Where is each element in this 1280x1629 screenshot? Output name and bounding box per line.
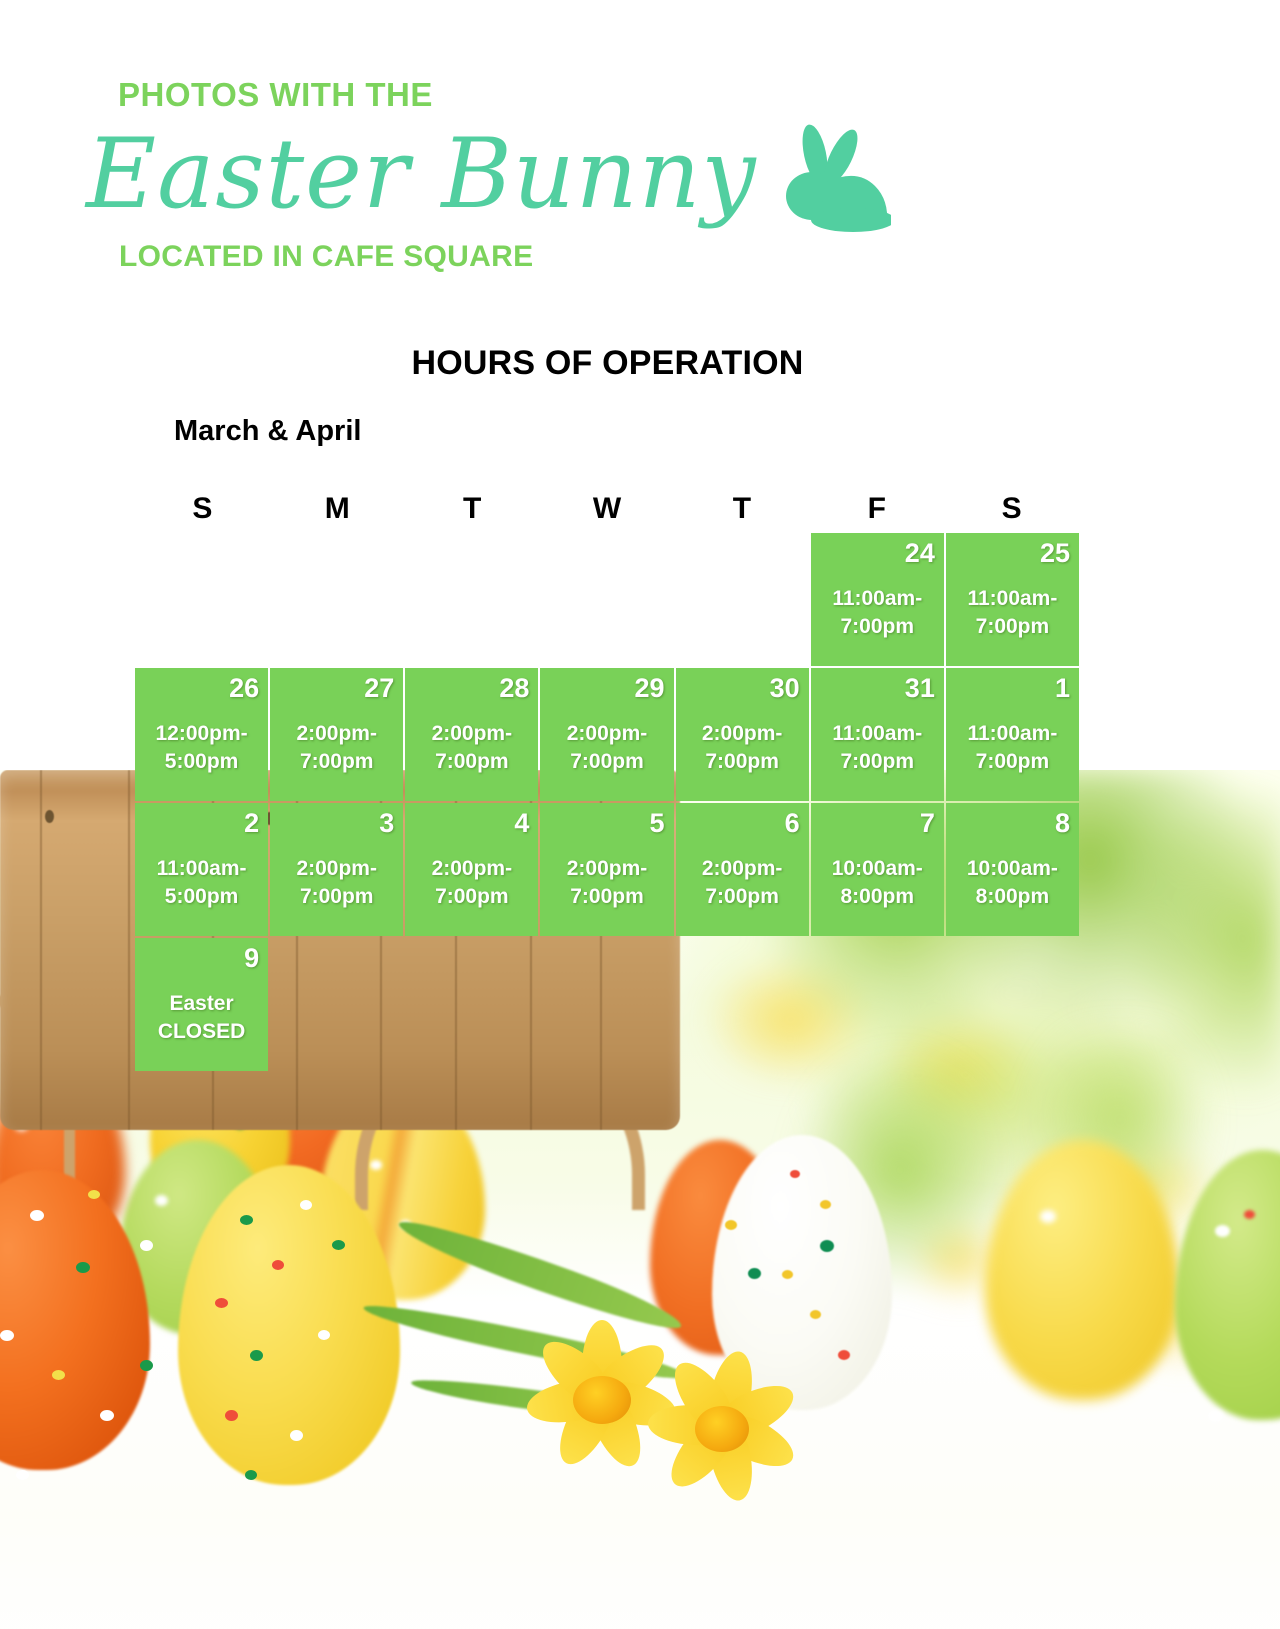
calendar-week-row: 2612:00pm-5:00pm272:00pm-7:00pm282:00pm-… (135, 668, 1079, 801)
calendar-day-hours: 11:00am-7:00pm (946, 585, 1079, 642)
calendar-day-cell[interactable]: 272:00pm-7:00pm (270, 668, 403, 801)
calendar-cell-wrapper: 2411:00am-7:00pm (811, 533, 944, 666)
calendar-cell-wrapper: 52:00pm-7:00pm (540, 803, 673, 936)
calendar-cell-wrapper: 710:00am-8:00pm (811, 803, 944, 936)
calendar-day-cell[interactable]: 810:00am-8:00pm (946, 803, 1079, 936)
calendar-cell-wrapper: 282:00pm-7:00pm (405, 668, 538, 801)
calendar-week-row: 9Easter CLOSED (135, 938, 1079, 1071)
calendar-cell-wrapper (540, 533, 673, 666)
calendar-cell-wrapper (811, 938, 944, 1071)
bunny-silhouette-icon (779, 124, 891, 237)
calendar-cell-wrapper: 272:00pm-7:00pm (270, 668, 403, 801)
header-kicker: PHOTOS WITH THE (118, 76, 433, 114)
calendar-day-cell[interactable]: 42:00pm-7:00pm (405, 803, 538, 936)
calendar-day-cell[interactable]: 292:00pm-7:00pm (540, 668, 673, 801)
day-of-week-header: S (944, 485, 1079, 533)
calendar-cell-empty (405, 938, 538, 1071)
calendar-cell-wrapper: 32:00pm-7:00pm (270, 803, 403, 936)
calendar-cell-empty (676, 533, 809, 666)
day-of-week-header-row: SMTWTFS (135, 485, 1079, 533)
easter-bunny-hours-poster: PHOTOS WITH THE Easter Bunny (0, 0, 1280, 1629)
calendar-day-cell[interactable]: 62:00pm-7:00pm (676, 803, 809, 936)
calendar-day-hours: Easter CLOSED (135, 990, 268, 1047)
calendar-day-cell[interactable]: 710:00am-8:00pm (811, 803, 944, 936)
calendar-cell-empty (405, 533, 538, 666)
calendar-weeks: 2411:00am-7:00pm2511:00am-7:00pm2612:00p… (135, 533, 1079, 1071)
calendar-cell-wrapper (676, 533, 809, 666)
calendar-day-hours: 2:00pm-7:00pm (270, 720, 403, 777)
calendar-day-cell[interactable]: 282:00pm-7:00pm (405, 668, 538, 801)
calendar-day-cell[interactable]: 3111:00am-7:00pm (811, 668, 944, 801)
calendar-day-number: 24 (905, 540, 935, 567)
calendar-week-row: 211:00am-5:00pm32:00pm-7:00pm42:00pm-7:0… (135, 803, 1079, 936)
calendar-grid: SMTWTFS 2411:00am-7:00pm2511:00am-7:00pm… (135, 485, 1079, 1073)
page-title: Easter Bunny (86, 124, 757, 225)
calendar-cell-wrapper (270, 533, 403, 666)
calendar-cell-wrapper: 2612:00pm-5:00pm (135, 668, 268, 801)
calendar-cell-wrapper: 292:00pm-7:00pm (540, 668, 673, 801)
calendar-day-number: 29 (635, 675, 665, 702)
calendar-day-cell[interactable]: 302:00pm-7:00pm (676, 668, 809, 801)
calendar-cell-empty (270, 938, 403, 1071)
calendar-day-hours: 2:00pm-7:00pm (405, 855, 538, 912)
calendar-cell-empty (811, 938, 944, 1071)
calendar-cell-wrapper (540, 938, 673, 1071)
calendar-day-hours: 2:00pm-7:00pm (676, 855, 809, 912)
header-title-line: Easter Bunny (86, 112, 891, 237)
calendar-day-cell[interactable]: 2411:00am-7:00pm (811, 533, 944, 666)
calendar-day-hours: 2:00pm-7:00pm (270, 855, 403, 912)
calendar-day-number: 27 (364, 675, 394, 702)
calendar-cell-wrapper: 3111:00am-7:00pm (811, 668, 944, 801)
calendar-cell-wrapper (676, 938, 809, 1071)
calendar-day-number: 30 (770, 675, 800, 702)
calendar-day-hours: 10:00am-8:00pm (946, 855, 1079, 912)
calendar-cell-wrapper (270, 938, 403, 1071)
calendar-cell-wrapper (946, 938, 1079, 1071)
calendar-day-hours: 2:00pm-7:00pm (405, 720, 538, 777)
month-label: March & April (174, 415, 361, 448)
calendar-day-number: 3 (379, 810, 394, 837)
calendar-cell-wrapper: 42:00pm-7:00pm (405, 803, 538, 936)
calendar-cell-empty (676, 938, 809, 1071)
calendar-day-cell[interactable]: 2511:00am-7:00pm (946, 533, 1079, 666)
calendar-day-number: 7 (920, 810, 935, 837)
day-of-week-header: M (270, 485, 405, 533)
calendar-cell-wrapper: 62:00pm-7:00pm (676, 803, 809, 936)
day-of-week-header: W (540, 485, 675, 533)
calendar-cell-wrapper: 111:00am-7:00pm (946, 668, 1079, 801)
calendar-day-number: 26 (229, 675, 259, 702)
calendar-cell-wrapper: 9Easter CLOSED (135, 938, 268, 1071)
calendar-cell-empty (540, 533, 673, 666)
calendar-day-hours: 11:00am-7:00pm (811, 585, 944, 642)
photo-bottom-sheen (0, 1509, 1280, 1629)
calendar-cell-empty (135, 533, 268, 666)
calendar-cell-wrapper: 2511:00am-7:00pm (946, 533, 1079, 666)
calendar-cell-empty (270, 533, 403, 666)
calendar-day-cell[interactable]: 211:00am-5:00pm (135, 803, 268, 936)
calendar-day-number: 6 (785, 810, 800, 837)
calendar-day-number: 2 (244, 810, 259, 837)
calendar-day-cell[interactable]: 111:00am-7:00pm (946, 668, 1079, 801)
day-of-week-header: S (135, 485, 270, 533)
calendar-day-number: 1 (1055, 675, 1070, 702)
day-of-week-header: T (674, 485, 809, 533)
calendar-day-cell[interactable]: 52:00pm-7:00pm (540, 803, 673, 936)
calendar-day-number: 4 (514, 810, 529, 837)
hours-of-operation-title: HOURS OF OPERATION (0, 344, 1215, 383)
calendar-cell-wrapper (135, 533, 268, 666)
calendar-day-number: 25 (1040, 540, 1070, 567)
calendar-day-hours: 11:00am-5:00pm (135, 855, 268, 912)
calendar-cell-wrapper (405, 938, 538, 1071)
calendar-day-hours: 11:00am-7:00pm (946, 720, 1079, 777)
day-of-week-header: T (405, 485, 540, 533)
calendar-day-number: 31 (905, 675, 935, 702)
calendar-day-hours: 2:00pm-7:00pm (540, 855, 673, 912)
day-of-week-header: F (809, 485, 944, 533)
calendar-day-number: 9 (244, 945, 259, 972)
calendar-day-cell[interactable]: 2612:00pm-5:00pm (135, 668, 268, 801)
calendar-day-number: 8 (1055, 810, 1070, 837)
calendar-week-row: 2411:00am-7:00pm2511:00am-7:00pm (135, 533, 1079, 666)
calendar-cell-wrapper: 302:00pm-7:00pm (676, 668, 809, 801)
calendar-cell-wrapper (405, 533, 538, 666)
calendar-day-hours: 2:00pm-7:00pm (676, 720, 809, 777)
calendar-cell-wrapper: 211:00am-5:00pm (135, 803, 268, 936)
calendar-day-hours: 11:00am-7:00pm (811, 720, 944, 777)
calendar-day-hours: 2:00pm-7:00pm (540, 720, 673, 777)
calendar-cell-wrapper: 810:00am-8:00pm (946, 803, 1079, 936)
calendar-day-hours: 12:00pm-5:00pm (135, 720, 268, 777)
calendar-day-hours: 10:00am-8:00pm (811, 855, 944, 912)
header-location: LOCATED IN CAFE SQUARE (119, 240, 533, 274)
calendar-cell-empty (946, 938, 1079, 1071)
calendar-day-number: 5 (650, 810, 665, 837)
calendar-day-cell[interactable]: 9Easter CLOSED (135, 938, 268, 1071)
calendar-day-number: 28 (499, 675, 529, 702)
calendar-day-cell[interactable]: 32:00pm-7:00pm (270, 803, 403, 936)
calendar-cell-empty (540, 938, 673, 1071)
